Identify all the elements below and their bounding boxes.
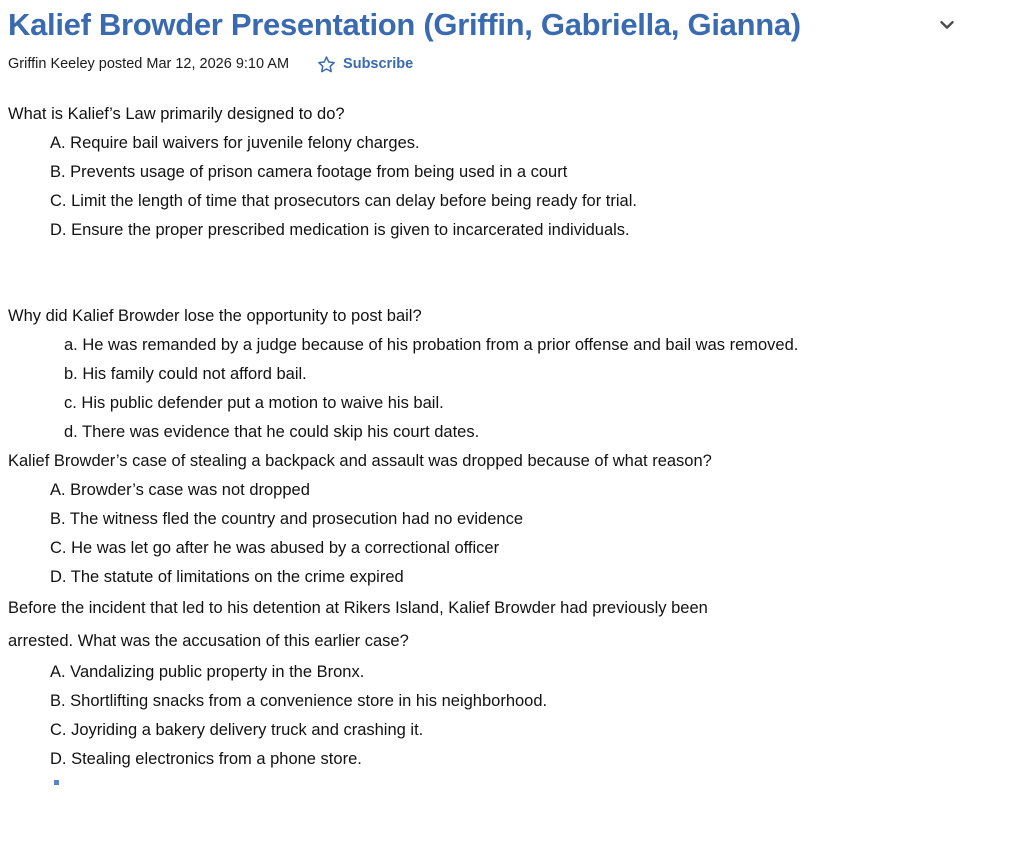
star-outline-icon	[317, 55, 336, 74]
truncated-content-marker	[8, 780, 1026, 794]
option-list: A. Require bail waivers for juvenile fel…	[8, 129, 1026, 245]
page-title: Kalief Browder Presentation (Griffin, Ga…	[8, 4, 801, 46]
post-body: What is Kalief’s Law primarily designed …	[8, 100, 1026, 794]
option-item[interactable]: C. He was let go after he was abused by …	[8, 534, 1026, 563]
option-item[interactable]: D. Ensure the proper prescribed medicati…	[8, 216, 1026, 245]
option-item[interactable]: B. The witness fled the country and pros…	[8, 505, 1026, 534]
chevron-down-icon[interactable]	[932, 10, 962, 40]
subscribe-button[interactable]: Subscribe	[317, 55, 413, 74]
question-block: What is Kalief’s Law primarily designed …	[8, 100, 1026, 245]
option-item[interactable]: C. Limit the length of time that prosecu…	[8, 187, 1026, 216]
option-list: A. Vandalizing public property in the Br…	[8, 658, 1026, 774]
option-item[interactable]: A. Vandalizing public property in the Br…	[8, 658, 1026, 687]
option-item[interactable]: d. There was evidence that he could skip…	[8, 418, 1026, 447]
discussion-post-page: Kalief Browder Presentation (Griffin, Ga…	[0, 0, 1026, 850]
byline-row: Griffin Keeley posted Mar 12, 2026 9:10 …	[8, 54, 1026, 74]
question-block: Kalief Browder’s case of stealing a back…	[8, 447, 1026, 592]
option-item[interactable]: a. He was remanded by a judge because of…	[8, 331, 1026, 360]
question-prompt: Kalief Browder’s case of stealing a back…	[8, 447, 1026, 476]
option-list: A. Browder’s case was not dropped B. The…	[8, 476, 1026, 592]
option-item[interactable]: B. Prevents usage of prison camera foota…	[8, 158, 1026, 187]
question-prompt: Why did Kalief Browder lose the opportun…	[8, 302, 1026, 331]
subscribe-label: Subscribe	[343, 56, 413, 72]
option-item[interactable]: c. His public defender put a motion to w…	[8, 389, 1026, 418]
section-spacer	[8, 245, 1026, 302]
post-byline: Griffin Keeley posted Mar 12, 2026 9:10 …	[8, 54, 289, 74]
question-prompt-line-1: Before the incident that led to his dete…	[8, 592, 1026, 625]
question-prompt-line-2: arrested. What was the accusation of thi…	[8, 625, 1026, 658]
option-item[interactable]: B. Shortlifting snacks from a convenienc…	[8, 687, 1026, 716]
post-header: Kalief Browder Presentation (Griffin, Ga…	[8, 0, 1026, 74]
question-block: Before the incident that led to his dete…	[8, 592, 1026, 774]
option-list: a. He was remanded by a judge because of…	[8, 331, 1026, 447]
option-item[interactable]: b. His family could not afford bail.	[8, 360, 1026, 389]
option-item[interactable]: A. Browder’s case was not dropped	[8, 476, 1026, 505]
option-item[interactable]: C. Joyriding a bakery delivery truck and…	[8, 716, 1026, 745]
title-row: Kalief Browder Presentation (Griffin, Ga…	[8, 4, 1026, 46]
question-prompt: What is Kalief’s Law primarily designed …	[8, 100, 1026, 129]
option-item[interactable]: D. Stealing electronics from a phone sto…	[8, 745, 1026, 774]
bullet-fragment-icon	[54, 780, 59, 785]
option-item[interactable]: D. The statute of limitations on the cri…	[8, 563, 1026, 592]
option-item[interactable]: A. Require bail waivers for juvenile fel…	[8, 129, 1026, 158]
question-block: Why did Kalief Browder lose the opportun…	[8, 302, 1026, 447]
